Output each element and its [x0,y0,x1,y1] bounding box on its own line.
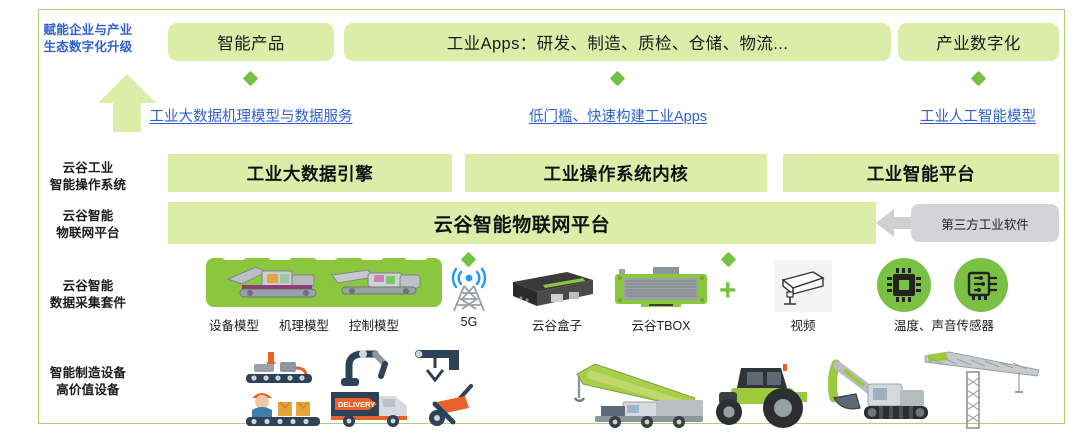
sensor-chip-icon [877,258,931,312]
top-box-label: 智能产品 [217,30,285,54]
mechanism-model-label: 机理模型 [269,315,339,334]
gateway-box-icon [507,268,597,312]
value-proposition-label: 赋能企业与产业 生态数字化升级 [13,22,163,56]
excavator-model-icon [222,263,327,303]
os-block-label: 工业智能平台 [867,161,976,186]
os-block-kernel[interactable]: 工业操作系统内核 [465,154,767,192]
os-block-big-data-engine[interactable]: 工业大数据引擎 [168,154,452,192]
iot-platform-block[interactable]: 云谷智能物联网平台 [168,202,876,244]
third-party-software-label: 第三方工业软件 [941,214,1029,233]
sensor-circuit-icon [954,258,1008,312]
tractor-icon [707,358,813,430]
diamond-icon [610,71,626,87]
device-models-block [206,258,442,307]
svg-text:DELIVERY: DELIVERY [338,400,375,409]
os-block-label: 工业操作系统内核 [544,161,689,186]
excavator-icon [824,354,934,430]
diamond-icon [971,71,987,87]
plus-icon: + [719,276,737,306]
diamond-icon [243,71,259,87]
robot-arm-icon [335,348,395,388]
worker-packing-icon [244,386,322,428]
layer-label-os: 云谷工业 智能操作系统 [13,160,163,194]
os-block-ai-platform[interactable]: 工业智能平台 [783,154,1059,192]
layer-label-iot: 云谷智能 物联网平台 [13,208,163,242]
top-box-label: 工业Apps：研发、制造、质检、仓储、物流... [447,30,788,54]
sensor-label: 温度、声音传感器 [884,315,1004,334]
third-party-software-box[interactable]: 第三方工业软件 [911,204,1059,242]
hand-trolley-icon [423,382,479,428]
caption-link-big-data-model[interactable]: 工业大数据机理模型与数据服务 [101,105,401,126]
gateway-box-label: 云谷盒子 [517,315,597,334]
iot-platform-label: 云谷智能物联网平台 [434,210,610,237]
5g-tower-icon [444,266,494,314]
video-label: 视频 [773,315,833,334]
lego-notch [360,251,384,260]
top-box-smart-product[interactable]: 智能产品 [168,23,334,61]
lego-notch [314,251,338,260]
tbox-icon [611,265,711,313]
delivery-truck-icon: DELIVERY [329,386,415,428]
diamond-icon [721,252,737,268]
lego-notch [222,251,246,260]
camera-icon [774,260,832,312]
caption-link-low-barrier-apps[interactable]: 低门槛、快速构建工业Apps [483,105,753,126]
lego-notch [404,251,428,260]
tower-crane-icon [919,350,1049,430]
5g-label: 5G [439,315,499,329]
mechanism-model-icon [328,265,428,301]
diagram-frame: 赋能企业与产业 生态数字化升级 智能产品 工业Apps：研发、制造、质检、仓储、… [38,9,1065,424]
mobile-crane-icon [569,358,709,430]
conveyor-icon [244,350,318,386]
top-box-industry-digitalization[interactable]: 产业数字化 [898,23,1059,61]
top-box-label: 产业数字化 [936,30,1021,54]
diamond-icon [461,252,477,268]
layer-label-equipment: 智能制造设备 高价值设备 [13,365,163,399]
control-model-label: 控制模型 [339,315,409,334]
tbox-label: 云谷TBOX [621,315,701,334]
layer-label-data-acq: 云谷智能 数据采集套件 [13,278,163,312]
top-box-industrial-apps[interactable]: 工业Apps：研发、制造、质检、仓储、物流... [344,23,891,61]
lego-notch [268,251,292,260]
os-block-label: 工业大数据引擎 [247,161,374,186]
caption-link-ai-model[interactable]: 工业人工智能模型 [903,105,1053,126]
device-model-label: 设备模型 [199,315,269,334]
